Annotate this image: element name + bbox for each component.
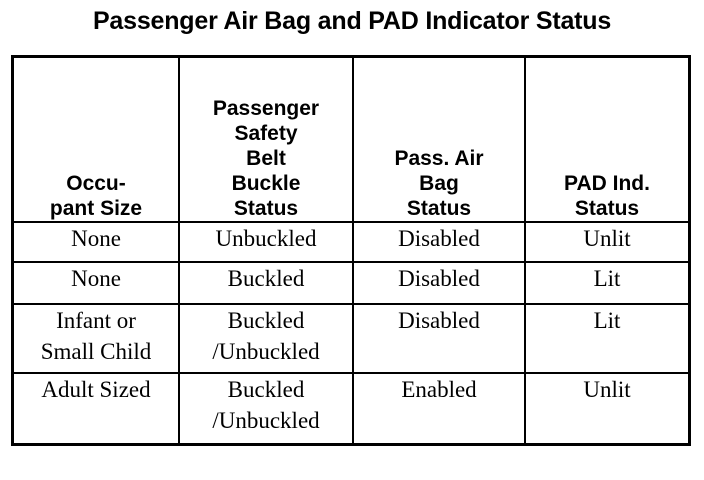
cell-pad-indicator-status-value: Lit (526, 305, 688, 336)
cell-air-bag-status: Disabled (353, 262, 525, 304)
cell-occupant-size-value: None (14, 263, 178, 294)
cell-air-bag-status-value: Enabled (354, 374, 524, 405)
cell-occupant-size-value: Adult Sized (14, 374, 178, 405)
table-row: Infant or Small Child Buckled /Unbuckled… (13, 304, 690, 373)
cell-pad-indicator-status-value: Lit (526, 263, 688, 294)
table-header-row: Occu- pant Size Passenger Safety Belt Bu… (13, 57, 690, 223)
cell-air-bag-status: Enabled (353, 373, 525, 445)
column-header-belt-buckle-status-label: Passenger Safety Belt Buckle Status (180, 96, 352, 221)
column-header-occupant-size: Occu- pant Size (13, 57, 180, 223)
cell-occupant-size-value: Infant or Small Child (14, 305, 178, 367)
cell-pad-indicator-status-value: Unlit (526, 223, 688, 254)
table-row: None Unbuckled Disabled Unlit (13, 222, 690, 262)
cell-pad-indicator-status-value: Unlit (526, 374, 688, 405)
page-root: Passenger Air Bag and PAD Indicator Stat… (0, 0, 704, 480)
cell-air-bag-status: Disabled (353, 222, 525, 262)
cell-belt-buckle-status-value: Unbuckled (180, 223, 352, 254)
cell-belt-buckle-status-value: Buckled /Unbuckled (180, 374, 352, 436)
cell-occupant-size: None (13, 262, 180, 304)
cell-pad-indicator-status: Lit (525, 262, 690, 304)
cell-occupant-size: Adult Sized (13, 373, 180, 445)
cell-pad-indicator-status: Lit (525, 304, 690, 373)
cell-belt-buckle-status: Buckled /Unbuckled (179, 373, 353, 445)
cell-air-bag-status: Disabled (353, 304, 525, 373)
cell-belt-buckle-status: Buckled (179, 262, 353, 304)
column-header-air-bag-status: Pass. Air Bag Status (353, 57, 525, 223)
table-row: None Buckled Disabled Lit (13, 262, 690, 304)
cell-air-bag-status-value: Disabled (354, 305, 524, 336)
passenger-air-bag-status-table: Occu- pant Size Passenger Safety Belt Bu… (11, 55, 691, 446)
cell-belt-buckle-status: Unbuckled (179, 222, 353, 262)
cell-belt-buckle-status: Buckled /Unbuckled (179, 304, 353, 373)
table-row: Adult Sized Buckled /Unbuckled Enabled U… (13, 373, 690, 445)
column-header-belt-buckle-status: Passenger Safety Belt Buckle Status (179, 57, 353, 223)
column-header-occupant-size-label: Occu- pant Size (14, 171, 178, 221)
cell-occupant-size: None (13, 222, 180, 262)
cell-pad-indicator-status: Unlit (525, 222, 690, 262)
column-header-air-bag-status-label: Pass. Air Bag Status (354, 146, 524, 221)
page-title: Passenger Air Bag and PAD Indicator Stat… (0, 6, 704, 36)
cell-pad-indicator-status: Unlit (525, 373, 690, 445)
cell-occupant-size-value: None (14, 223, 178, 254)
column-header-pad-indicator-status: PAD Ind. Status (525, 57, 690, 223)
cell-air-bag-status-value: Disabled (354, 263, 524, 294)
cell-air-bag-status-value: Disabled (354, 223, 524, 254)
cell-belt-buckle-status-value: Buckled (180, 263, 352, 294)
cell-belt-buckle-status-value: Buckled /Unbuckled (180, 305, 352, 367)
cell-occupant-size: Infant or Small Child (13, 304, 180, 373)
column-header-pad-indicator-status-label: PAD Ind. Status (526, 171, 688, 221)
